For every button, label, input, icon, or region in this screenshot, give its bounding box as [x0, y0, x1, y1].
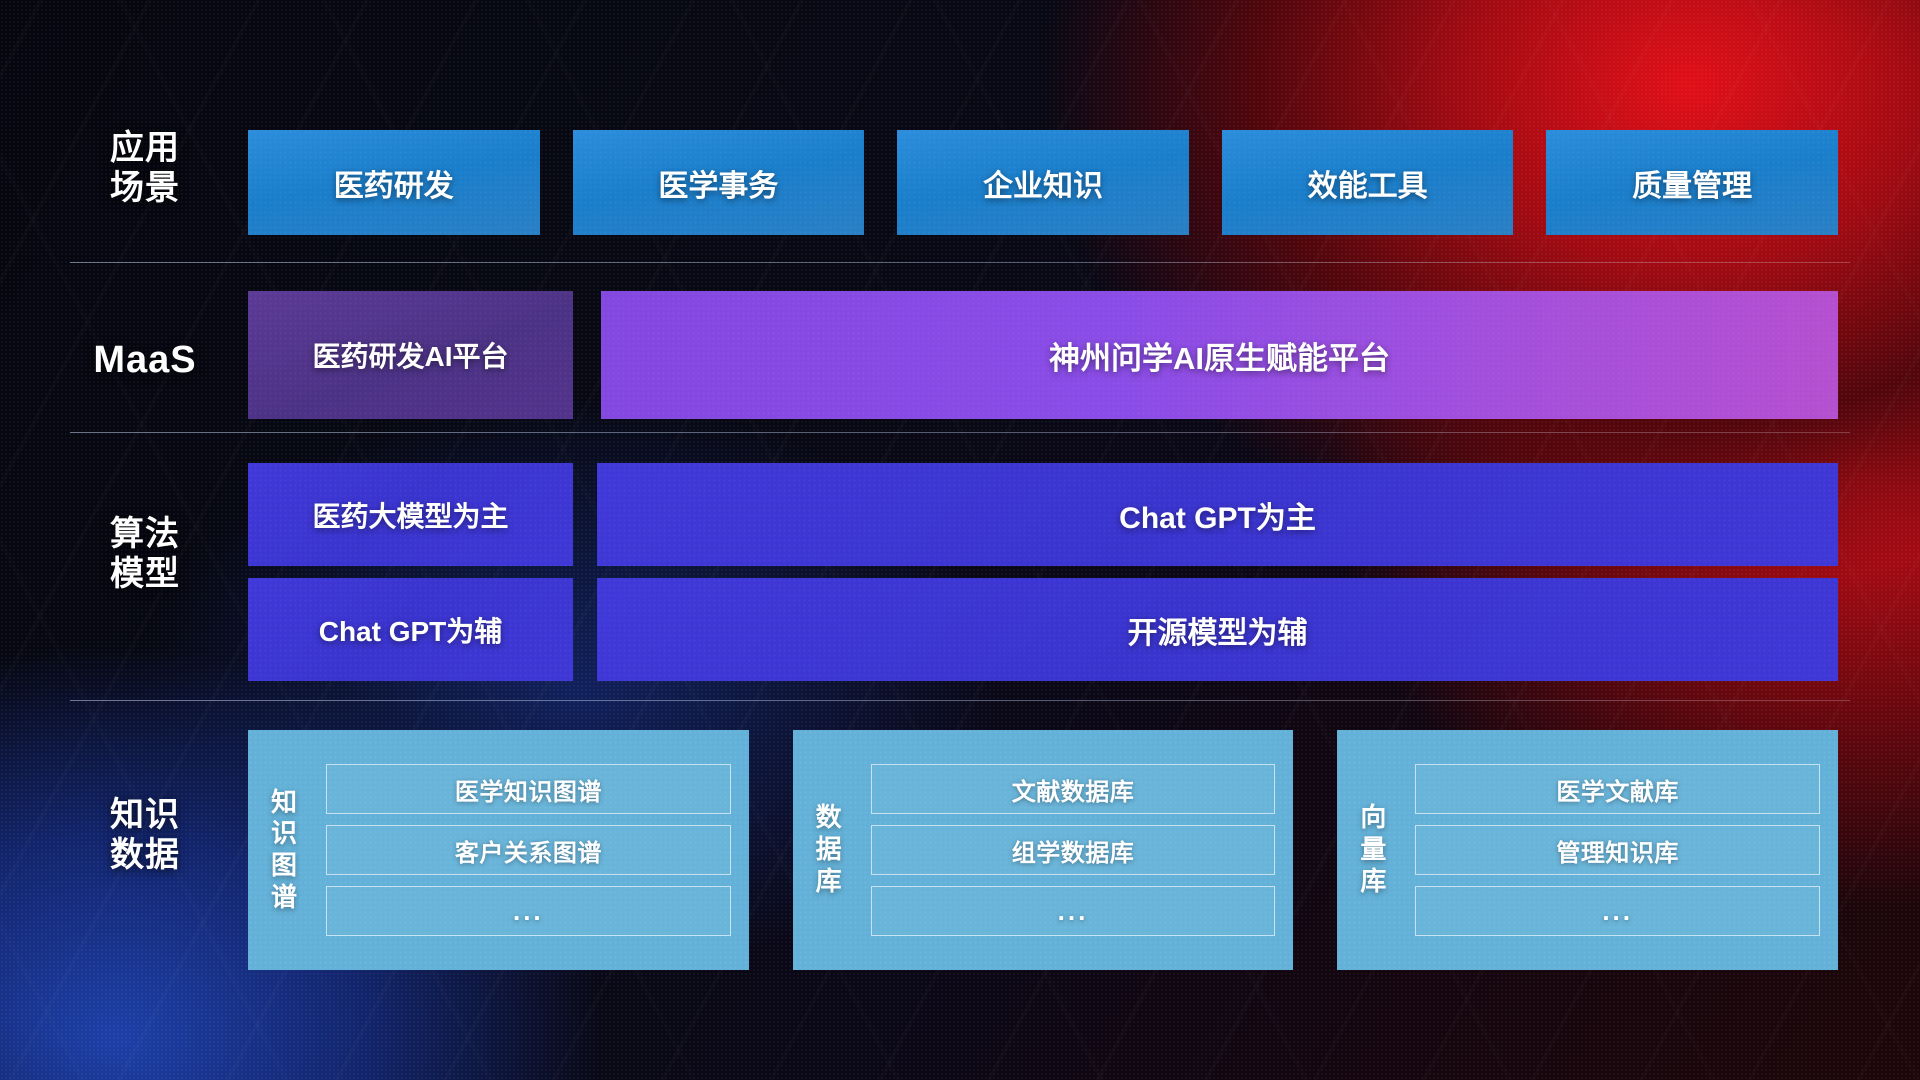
knowledge-item-2-2[interactable]: ...	[1415, 886, 1820, 936]
application-tile-4-label: 质量管理	[1622, 161, 1762, 205]
knowledge-item-list-0: 医学知识图谱客户关系图谱...	[320, 730, 749, 970]
application-tile-0[interactable]: 医药研发	[248, 130, 540, 235]
knowledge-item-0-2[interactable]: ...	[326, 886, 731, 936]
knowledge-item-2-1[interactable]: 管理知识库	[1415, 825, 1820, 875]
rail-algorithm-model-line-1: 模型	[70, 554, 220, 594]
knowledge-item-0-1[interactable]: 客户关系图谱	[326, 825, 731, 875]
knowledge-item-2-0[interactable]: 医学文献库	[1415, 764, 1820, 814]
application-tile-0-label: 医药研发	[324, 161, 464, 205]
application-tile-2[interactable]: 企业知识	[897, 130, 1189, 235]
maas-platform-tile-label: 医药研发AI平台	[302, 335, 518, 375]
rail-algorithm-model: 算法模型	[70, 514, 220, 594]
rail-knowledge-data-line-0: 知识	[70, 795, 220, 835]
application-tile-2-label: 企业知识	[973, 161, 1113, 205]
application-tile-1[interactable]: 医学事务	[573, 130, 865, 235]
knowledge-item-list-2: 医学文献库管理知识库...	[1409, 730, 1838, 970]
algorithm-right-tile-0[interactable]: Chat GPT为主	[597, 463, 1838, 566]
maas-enablement-platform-tile[interactable]: 神州问学AI原生赋能平台	[601, 291, 1838, 419]
application-tile-4[interactable]: 质量管理	[1546, 130, 1838, 235]
application-tile-3-label: 效能工具	[1298, 161, 1438, 205]
algorithm-right-tile-0-label: Chat GPT为主	[1109, 493, 1326, 537]
maas-platform-tile[interactable]: 医药研发AI平台	[248, 291, 573, 419]
algorithm-left-tile-1[interactable]: Chat GPT为辅	[248, 578, 573, 681]
rail-knowledge-data-line-1: 数据	[70, 835, 220, 875]
knowledge-group-name-1: 数 据 库	[793, 730, 865, 970]
knowledge-item-1-1[interactable]: 组学数据库	[871, 825, 1276, 875]
rail-application-scenario: 应用场景	[70, 128, 220, 208]
section-divider	[70, 700, 1850, 701]
rail-maas-line-0: MaaS	[70, 338, 220, 383]
maas-enablement-platform-tile-label: 神州问学AI原生赋能平台	[1039, 333, 1400, 378]
knowledge-item-1-0[interactable]: 文献数据库	[871, 764, 1276, 814]
architecture-diagram: 应用场景医药研发医学事务企业知识效能工具质量管理MaaS医药研发AI平台神州问学…	[0, 0, 1920, 1080]
knowledge-group-name-0: 知 识 图 谱	[248, 730, 320, 970]
knowledge-group-0[interactable]: 知 识 图 谱医学知识图谱客户关系图谱...	[248, 730, 749, 970]
knowledge-group-1[interactable]: 数 据 库文献数据库组学数据库...	[793, 730, 1294, 970]
algorithm-left-tile-1-label: Chat GPT为辅	[309, 610, 513, 650]
algorithm-right-tile-1-label: 开源模型为辅	[1118, 608, 1318, 652]
rail-application-scenario-line-1: 场景	[70, 168, 220, 208]
application-tile-1-label: 医学事务	[648, 161, 788, 205]
algorithm-left-tile-0[interactable]: 医药大模型为主	[248, 463, 573, 566]
rail-algorithm-model-line-0: 算法	[70, 514, 220, 554]
algorithm-left-tile-0-label: 医药大模型为主	[302, 495, 518, 535]
knowledge-item-list-1: 文献数据库组学数据库...	[865, 730, 1294, 970]
rail-maas: MaaS	[70, 338, 220, 383]
knowledge-item-0-0[interactable]: 医学知识图谱	[326, 764, 731, 814]
application-tile-3[interactable]: 效能工具	[1222, 130, 1514, 235]
section-divider	[70, 262, 1850, 263]
section-divider	[70, 432, 1850, 433]
knowledge-group-2[interactable]: 向 量 库医学文献库管理知识库...	[1337, 730, 1838, 970]
algorithm-right-tile-1[interactable]: 开源模型为辅	[597, 578, 1838, 681]
rail-application-scenario-line-0: 应用	[70, 128, 220, 168]
knowledge-item-1-2[interactable]: ...	[871, 886, 1276, 936]
knowledge-group-name-2: 向 量 库	[1337, 730, 1409, 970]
rail-knowledge-data: 知识数据	[70, 795, 220, 875]
